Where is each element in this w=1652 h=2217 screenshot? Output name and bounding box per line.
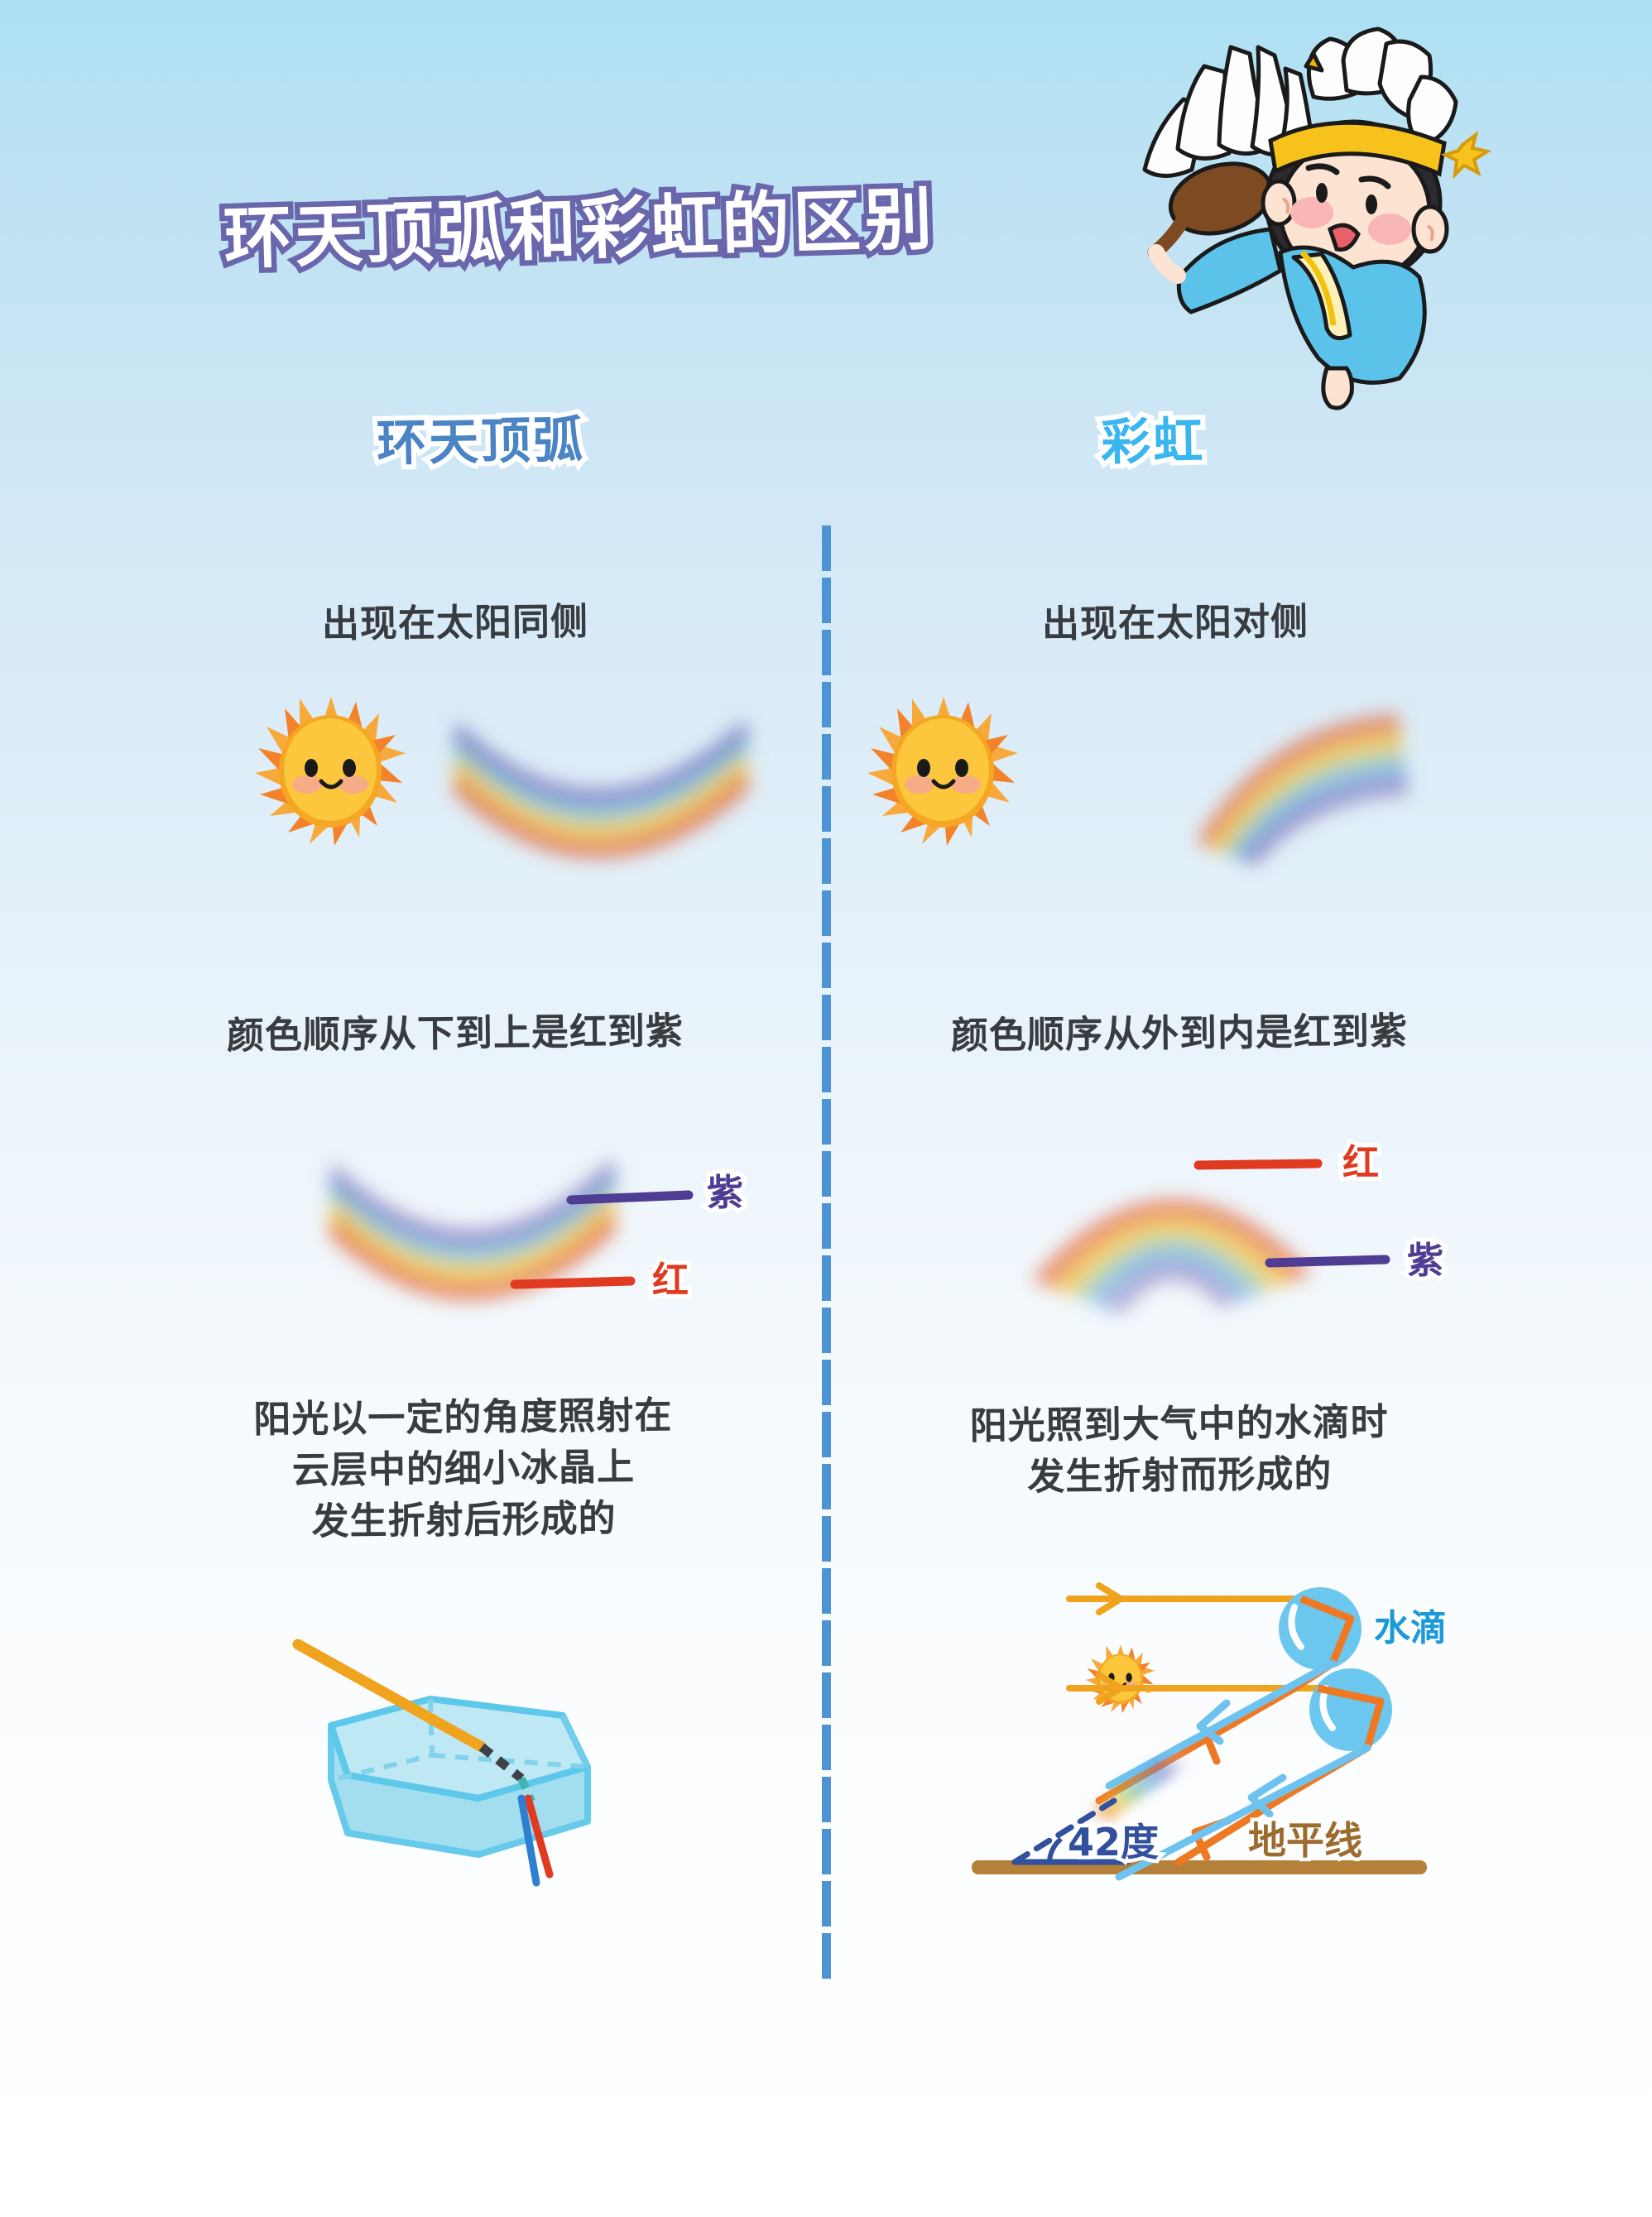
row-color-order-right-text: 颜色顺序从外到内是红到紫 (881, 1005, 1478, 1063)
column-header-circumzenithal: 环天顶弧 (376, 400, 585, 475)
column-header-rainbow: 彩虹 (1100, 401, 1205, 474)
rainbow-sun-arc-illustration (861, 687, 1440, 885)
row-formation-right-text: 阳光照到大气中的水滴时 发生折射而形成的 (889, 1395, 1469, 1504)
row-position-right-text: 出现在太阳对侧 (919, 595, 1433, 652)
label-purple: 紫 (707, 1172, 743, 1214)
circumzenithal-arc (331, 1164, 614, 1295)
mascot-character (1105, 4, 1535, 426)
purple-leader-line (1270, 1260, 1385, 1263)
rainbow-labeled-arc-illustration: 红 紫 (1018, 1125, 1548, 1332)
row-formation-left-text: 阳光以一定的角度照射在 云层中的细小冰晶上 发生折射后形成的 (173, 1389, 754, 1549)
row-position-left-text: 出现在太阳同侧 (199, 595, 713, 652)
circumzenithal-arc (455, 725, 748, 853)
label-water-drop: 水滴 (1374, 1607, 1447, 1649)
water-droplet-refraction-diagram: 水滴 42度 地平线 (944, 1548, 1457, 1945)
sun-icon (867, 697, 1018, 846)
red-leader-line (515, 1281, 631, 1284)
cza-labeled-arc-illustration: 紫 红 (306, 1125, 819, 1332)
cza-sun-arc-illustration (248, 687, 811, 885)
ice-crystal-refraction-diagram (265, 1610, 654, 1941)
label-red: 红 (652, 1260, 689, 1302)
title-container: 环天顶弧和彩虹的区别 (0, 174, 1159, 272)
rainbow-arc (1202, 720, 1409, 864)
vertical-divider (822, 525, 831, 1982)
hexagonal-ice-crystal (331, 1699, 588, 1855)
red-leader-line (1198, 1164, 1318, 1165)
sun-icon-small (1086, 1645, 1155, 1714)
sun-icon (255, 697, 406, 846)
label-red: 红 (1342, 1142, 1379, 1184)
row-color-order-left-text: 颜色顺序从下到上是红到紫 (157, 1005, 754, 1063)
rainbow-arc (1038, 1206, 1306, 1312)
purple-leader-line (571, 1195, 689, 1200)
infographic-page: 环天顶弧和彩虹的区别 (0, 0, 1652, 2217)
label-horizon: 地平线 (1248, 1818, 1362, 1863)
label-angle: 42度 (1068, 1820, 1159, 1864)
gold-ornament (1445, 135, 1487, 175)
page-title: 环天顶弧和彩虹的区别 (222, 164, 936, 282)
label-purple: 紫 (1407, 1240, 1443, 1282)
